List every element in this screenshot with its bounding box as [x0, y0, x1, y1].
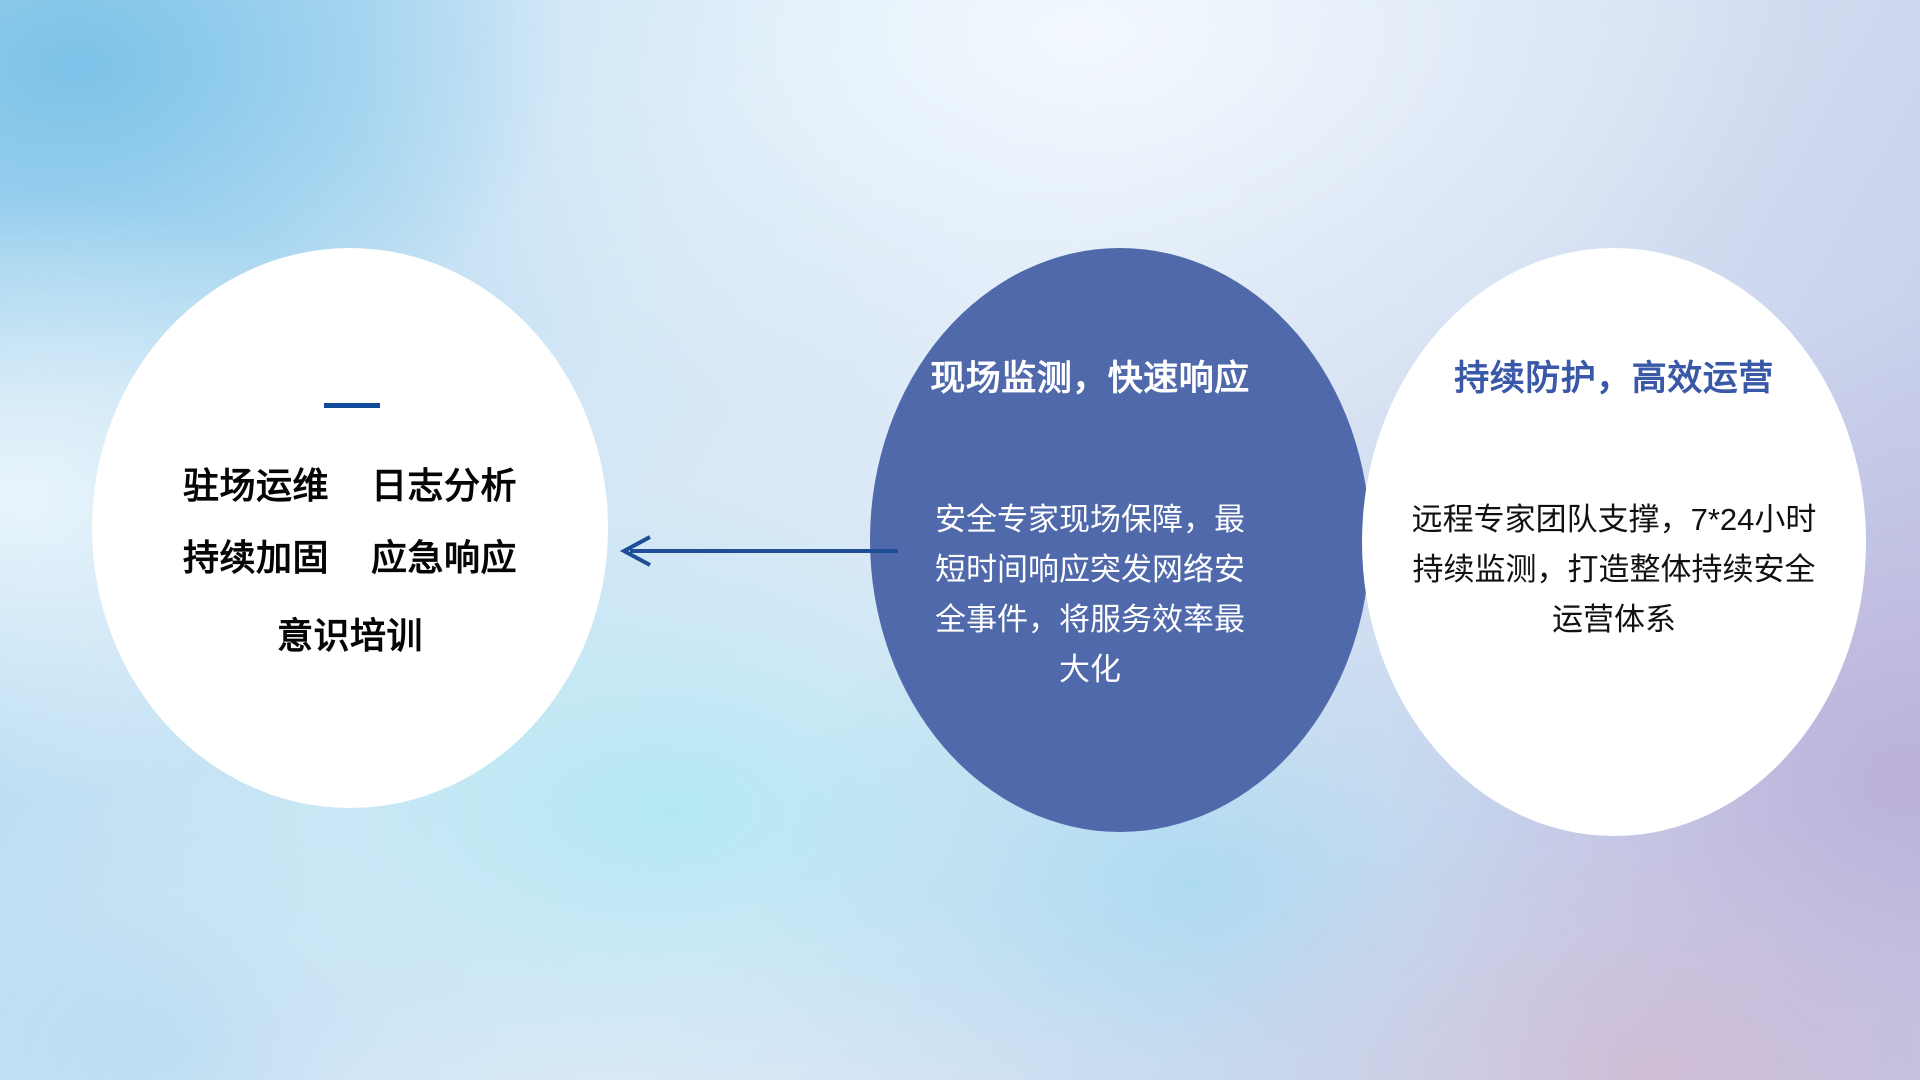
middle-circle-heading: 现场监测，快速响应: [930, 360, 1250, 399]
middle-circle-body-text: 安全专家现场保障，最短时间响应突发网络安全事件，将服务效率最大化: [920, 495, 1260, 696]
divider-dash: [324, 403, 380, 408]
middle-circle-content: 现场监测，快速响应 安全专家现场保障，最短时间响应突发网络安全事件，将服务效率最…: [880, 248, 1300, 832]
right-circle-content: 持续防护，高效运营 远程专家团队支撑，7*24小时持续监测，打造整体持续安全运营…: [1396, 248, 1832, 836]
arrow-left-icon: [608, 516, 898, 586]
left-keyword-line-2: 持续加固 应急响应: [183, 540, 517, 576]
right-circle-body-text: 远程专家团队支撑，7*24小时持续监测，打造整体持续安全运营体系: [1404, 495, 1824, 646]
slide-canvas: 驻场运维 日志分析 持续加固 应急响应 意识培训 现场监测，快速响应 安全专家现…: [0, 0, 1920, 1080]
left-keyword-line-3: 意识培训: [277, 618, 423, 654]
left-keyword-line-1: 驻场运维 日志分析: [183, 468, 517, 504]
right-circle-heading: 持续防护，高效运营: [1454, 360, 1774, 399]
left-circle-content: 驻场运维 日志分析 持续加固 应急响应 意识培训: [92, 248, 608, 808]
